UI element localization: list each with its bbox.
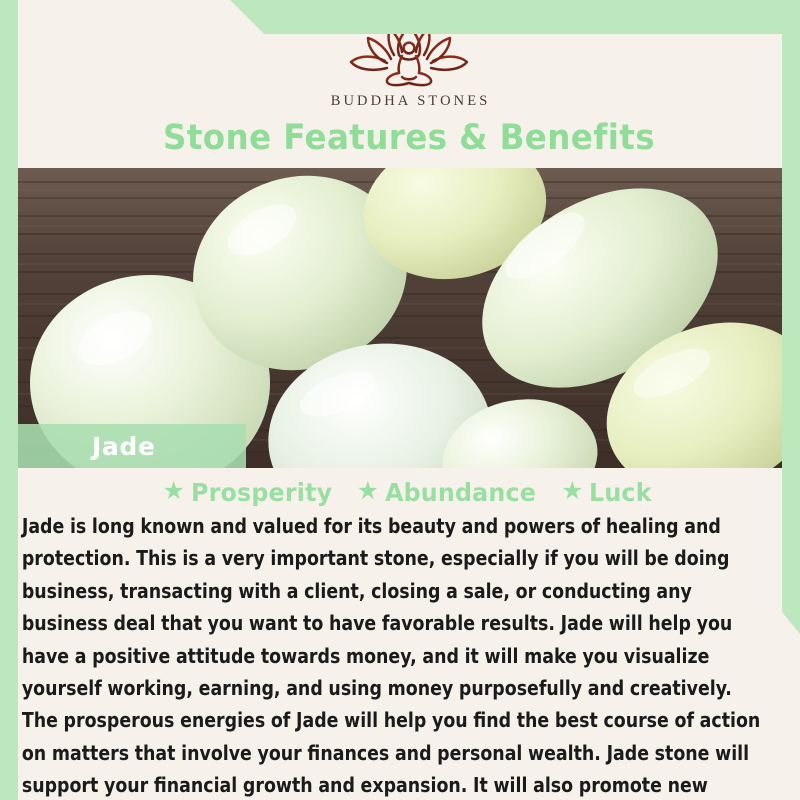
star-icon: ★ [357,479,379,504]
keyword-label: Abundance [385,478,536,507]
keyword-item-abundance: ★ Abundance [357,478,544,507]
keyword-label: Prosperity [191,478,332,507]
keyword-list: ★ Prosperity ★ Abundance ★ Luck [18,478,800,507]
keyword-item-prosperity: ★ Prosperity [163,478,340,507]
poster-root: BUDDHA STONES Stone Features & Benefits [0,0,800,800]
star-icon: ★ [561,479,583,504]
logo-block: BUDDHA STONES [18,22,800,110]
stone-name-banner: Jade [18,424,246,468]
brand-name: BUDDHA STONES [18,93,800,110]
star-icon: ★ [163,479,185,504]
page-title-text: Stone Features & Benefits [45,118,772,158]
page-title: Stone Features & Benefits [18,118,800,158]
keyword-item-luck: ★ Luck [561,478,655,507]
content-card: BUDDHA STONES Stone Features & Benefits [18,0,800,800]
description-paragraph: Jade is long known and valued for its be… [18,510,766,800]
lotus-meditation-icon [341,22,477,88]
stone-name-label: Jade [92,432,155,461]
stone-photo: Jade [18,168,800,468]
keyword-label: Luck [589,478,652,507]
